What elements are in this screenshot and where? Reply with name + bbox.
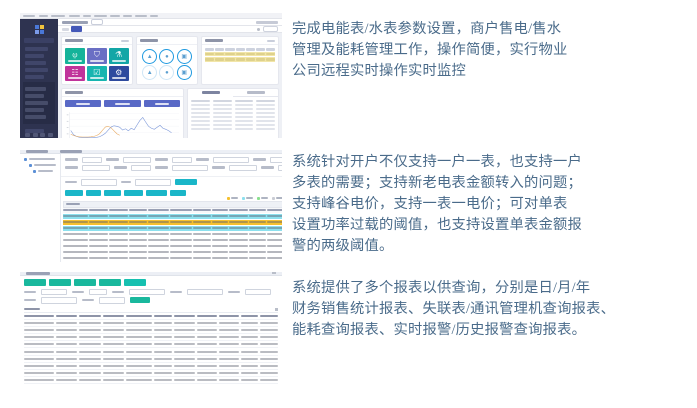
filter-input[interactable] (82, 157, 102, 163)
org-tree-panel[interactable] (20, 154, 61, 263)
date-input[interactable] (41, 297, 77, 304)
header-user-info[interactable] (256, 21, 278, 24)
filter-input[interactable] (270, 157, 282, 163)
chart-filter-1[interactable] (65, 100, 101, 107)
filter-label (24, 291, 36, 293)
sidebar-item-1[interactable] (25, 47, 48, 51)
gauge-icon: ▲ (147, 70, 153, 76)
tree-node-root[interactable] (24, 158, 56, 161)
sidebar-item-9[interactable] (25, 108, 44, 112)
list-item (191, 127, 275, 131)
filter-label (82, 299, 94, 301)
filter-label (253, 158, 266, 160)
table-row[interactable] (24, 348, 278, 355)
tile-settings[interactable]: ⚙ (109, 66, 129, 82)
app-logo (20, 19, 58, 36)
tree-node-leaf[interactable] (24, 170, 56, 173)
dashboard-main: ⍹ ⛉ ⚗ ☷ ☑ ⚙ ▲ ● ▣ (58, 19, 282, 138)
settings-gear-icon: ⚙ (115, 69, 122, 77)
table-header-row (24, 313, 278, 320)
table-row[interactable] (24, 334, 278, 341)
filter-input[interactable] (172, 157, 192, 163)
filter-input[interactable] (172, 165, 208, 171)
search-button[interactable] (175, 179, 197, 185)
file-icon (33, 170, 36, 173)
paragraph-3: 系统提供了多个报表以供查询，分别是日/月/年 财务销售统计报表、失联表/通讯管理… (292, 278, 692, 341)
tile-shield-check[interactable]: ⛉ (87, 48, 107, 64)
action-button-6[interactable] (170, 190, 186, 196)
trend-chart-card (61, 88, 184, 138)
legend-item (272, 197, 282, 200)
dashboard-app: ⍹ ⛉ ⚗ ☷ ☑ ⚙ ▲ ● ▣ (20, 19, 282, 138)
report-filter-row-2[interactable] (24, 297, 278, 304)
filter-label (170, 291, 182, 293)
dashboard-row-top: ⍹ ⛉ ⚗ ☷ ☑ ⚙ ▲ ● ▣ (58, 33, 282, 88)
gauges-card: ▲ ● ▣ ▲ ● ▣ (136, 36, 199, 85)
filter-label (155, 166, 168, 168)
search-input[interactable] (81, 179, 117, 186)
sidebar-footer-icons[interactable] (20, 133, 58, 137)
footer-icon-1[interactable] (25, 133, 30, 137)
ranking-list (188, 97, 278, 133)
gauge-icon: ● (165, 54, 169, 60)
meter-app-body (20, 154, 282, 263)
table-row[interactable] (24, 356, 278, 363)
report-button-3[interactable] (74, 279, 96, 286)
meter-content (61, 154, 282, 263)
legend-swatch-cyan (242, 197, 245, 200)
action-button-4[interactable] (124, 190, 143, 196)
summary-table (202, 45, 278, 84)
quick-action-tiles[interactable]: ⍹ ⛉ ⚗ ☷ ☑ ⚙ (62, 45, 132, 84)
tab-active[interactable] (71, 26, 82, 32)
sidebar-item-8[interactable] (25, 101, 48, 105)
gauge-5: ● (159, 65, 174, 80)
summary-table-card-header (202, 37, 278, 45)
summary-table-header-row (205, 48, 275, 51)
action-button-3[interactable] (104, 190, 121, 196)
gauge-2: ● (159, 49, 174, 64)
dashboard-row-bottom (58, 88, 282, 138)
report-content (20, 276, 282, 385)
browser-bookmark-bar (20, 13, 282, 19)
ranking-tabs[interactable] (188, 89, 278, 97)
filter-input[interactable] (82, 165, 110, 171)
filter-label (65, 166, 78, 168)
report-button-5[interactable] (124, 279, 146, 286)
bar-chart-icon: ☷ (71, 69, 78, 77)
tab-dot-icon (257, 28, 260, 31)
legend-item (227, 197, 238, 200)
meter-icon: ⚗ (115, 51, 122, 59)
gauge-3: ▣ (177, 49, 192, 64)
tile-meter[interactable]: ⚗ (109, 48, 129, 64)
action-button-5[interactable] (146, 190, 167, 196)
filter-input[interactable] (123, 157, 151, 163)
action-button-2[interactable] (86, 190, 101, 196)
page-title (26, 272, 50, 275)
gauge-6: ▣ (177, 65, 192, 80)
filter-label (112, 291, 124, 293)
legend-item (242, 197, 253, 200)
search-label (65, 181, 77, 183)
query-button[interactable] (130, 297, 150, 303)
meter-filter-form[interactable] (61, 154, 282, 177)
report-app (20, 272, 282, 379)
close-icon[interactable] (272, 272, 276, 274)
meter-action-toolbar[interactable] (61, 188, 282, 197)
filter-input[interactable] (129, 289, 165, 296)
report-button-1[interactable] (24, 279, 46, 286)
filter-label (106, 158, 119, 160)
table-row (205, 52, 275, 57)
section-title (60, 150, 82, 153)
gauge-icon: ▲ (147, 54, 153, 60)
filter-input[interactable] (213, 157, 249, 163)
dashboard-tabbar[interactable] (58, 26, 282, 33)
table-row[interactable] (24, 370, 278, 377)
breadcrumb (62, 21, 88, 24)
footer-icon-2[interactable] (33, 133, 38, 137)
table-row (205, 57, 275, 62)
footer-icon-3[interactable] (40, 133, 45, 137)
filter-input[interactable] (245, 289, 271, 296)
tab-action-button[interactable] (263, 26, 278, 32)
dashboard-header (58, 19, 282, 26)
trend-chart (62, 110, 183, 138)
printer-icon: ⍹ (73, 51, 78, 59)
gauge-4: ▲ (142, 65, 157, 80)
chart-filter-row[interactable] (62, 97, 183, 110)
trend-chart-svg (65, 110, 180, 138)
gauge-grid: ▲ ● ▣ ▲ ● ▣ (137, 45, 198, 84)
filter-input[interactable] (41, 289, 67, 296)
sidebar-item-2[interactable] (25, 54, 44, 58)
sidebar-item-3[interactable] (25, 61, 46, 65)
folder-icon (24, 158, 27, 161)
filter-input[interactable] (89, 289, 107, 296)
meter-table (61, 201, 282, 263)
report-filter-row-1[interactable] (24, 289, 278, 296)
footer-icon-4[interactable] (48, 133, 53, 137)
meter-app (20, 150, 282, 257)
legend-swatch-yellow (227, 197, 230, 200)
meter-table-caption (63, 201, 282, 208)
clipboard-check-icon: ☑ (93, 69, 100, 77)
legend-item (257, 197, 268, 200)
report-toolbar[interactable] (24, 279, 278, 286)
sidebar-item-5[interactable] (25, 75, 44, 79)
quick-actions-card-header (62, 37, 132, 45)
gauge-1: ▲ (142, 49, 157, 64)
chart-filter-2[interactable] (104, 100, 140, 107)
paragraph-1: 完成电能表/水表参数设置，商户售电/售水 管理及能耗管理工作，操作简便，实行物业… (292, 19, 692, 82)
trend-chart-card-header (62, 89, 183, 97)
gauge-icon: ▣ (181, 70, 187, 76)
search-input-2[interactable] (135, 179, 171, 186)
tab-home[interactable] (62, 28, 69, 31)
gauges-card-header (137, 37, 198, 45)
filter-label (196, 158, 209, 160)
filter-label (212, 166, 225, 168)
sidebar-item-6[interactable] (25, 87, 46, 91)
chart-filter-3[interactable] (144, 100, 180, 107)
filter-label (114, 166, 127, 168)
report-table (24, 312, 278, 385)
header-badge (91, 19, 103, 25)
sidebar-nav[interactable] (20, 47, 58, 133)
search-label-2 (121, 181, 131, 183)
action-button-1[interactable] (65, 190, 83, 196)
sidebar-group-expanded[interactable] (23, 82, 55, 124)
filter-input[interactable] (187, 289, 223, 296)
gauge-icon: ▣ (181, 54, 187, 60)
column-settings-icon[interactable] (275, 308, 278, 311)
paragraph-2: 系统针对开户不仅支持一户一表，也支持一户 多表的需要；支持新老电表金额转入的问题… (292, 152, 692, 257)
filter-label (24, 299, 36, 301)
select-input[interactable] (99, 297, 125, 304)
tree-node-child[interactable] (24, 164, 56, 167)
tile-clipboard-check[interactable]: ☑ (87, 66, 107, 82)
filter-label (65, 158, 78, 160)
sidebar-item-10[interactable] (25, 115, 46, 119)
legend-swatch-grey (272, 197, 275, 200)
table-row[interactable] (24, 320, 278, 327)
table-row[interactable] (24, 341, 278, 348)
filter-label (72, 291, 84, 293)
filter-input[interactable] (131, 165, 151, 171)
table-row[interactable] (24, 377, 278, 384)
table-row[interactable] (24, 327, 278, 334)
table-row[interactable] (24, 363, 278, 370)
quick-actions-card: ⍹ ⛉ ⚗ ☷ ☑ ⚙ (61, 36, 133, 85)
shield-check-icon: ⛉ (94, 51, 100, 59)
filter-input[interactable] (229, 165, 257, 171)
sidebar-user-block (24, 38, 54, 43)
report-button-4[interactable] (99, 279, 121, 286)
filter-input[interactable] (278, 165, 282, 171)
screenshot-meter-table (20, 150, 282, 262)
ranking-card (187, 88, 279, 138)
page-title (26, 150, 48, 153)
dashboard-sidebar[interactable] (20, 19, 58, 138)
table-row[interactable] (63, 262, 282, 263)
report-button-2[interactable] (49, 279, 71, 286)
tab-ranking-a[interactable] (188, 89, 233, 97)
tile-bar-chart[interactable]: ☷ (65, 66, 85, 82)
tab-ranking-b[interactable] (233, 89, 278, 97)
summary-table-card (201, 36, 279, 85)
sidebar-item-4[interactable] (25, 68, 48, 72)
meter-search-row[interactable] (61, 177, 282, 188)
filter-label (261, 166, 274, 168)
gauge-icon: ● (165, 70, 169, 76)
legend-swatch-green (257, 197, 260, 200)
filter-label (228, 291, 240, 293)
slide-canvas: ⍹ ⛉ ⚗ ☷ ☑ ⚙ ▲ ● ▣ (0, 0, 697, 408)
screenshot-dashboard: ⍹ ⛉ ⚗ ☷ ☑ ⚙ ▲ ● ▣ (20, 13, 282, 138)
folder-icon (29, 164, 32, 167)
filter-label (155, 158, 168, 160)
sidebar-item-7[interactable] (25, 94, 44, 98)
screenshot-report (20, 272, 282, 384)
tile-printer[interactable]: ⍹ (65, 48, 85, 64)
